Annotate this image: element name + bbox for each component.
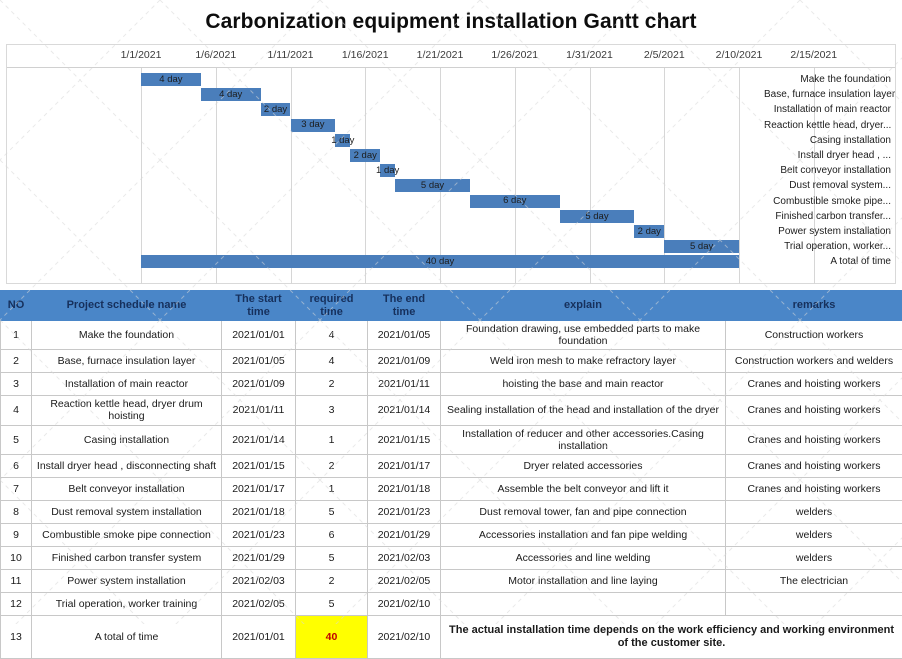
table-total-row[interactable]: 13A total of time2021/01/01402021/02/10T… xyxy=(1,615,902,658)
gantt-row-label: Install dryer head , ... xyxy=(764,148,895,163)
gantt-row-label: Power system installation xyxy=(764,224,895,239)
cell-no: 3 xyxy=(1,373,32,396)
cell-name: Power system installation xyxy=(32,569,222,592)
cell-start: 2021/02/05 xyxy=(222,592,296,615)
cell-no: 10 xyxy=(1,546,32,569)
cell-explain: Dust removal tower, fan and pipe connect… xyxy=(441,500,726,523)
table-row[interactable]: 10Finished carbon transfer system2021/01… xyxy=(1,546,902,569)
cell-required: 5 xyxy=(296,500,368,523)
table-head: NOProject schedule nameThe start timereq… xyxy=(1,291,902,321)
cell-end: 2021/01/09 xyxy=(368,350,441,373)
cell-explain: Dryer related accessories xyxy=(441,454,726,477)
cell-start: 2021/01/05 xyxy=(222,350,296,373)
cell-name: Dust removal system installation xyxy=(32,500,222,523)
axis-tick-label: 1/11/2021 xyxy=(268,49,314,61)
total-note-cell: The actual installation time depends on … xyxy=(441,615,902,658)
gantt-bar-label: 1 day xyxy=(376,166,399,176)
gantt-row: Casing installation1 day xyxy=(7,133,895,148)
table-row[interactable]: 7Belt conveyor installation2021/01/17120… xyxy=(1,477,902,500)
cell-name: Combustible smoke pipe connection xyxy=(32,523,222,546)
gantt-bar[interactable]: 5 day xyxy=(395,179,470,192)
cell-remarks: Construction workers xyxy=(726,321,902,350)
cell-required: 5 xyxy=(296,546,368,569)
cell-explain: hoisting the base and main reactor xyxy=(441,373,726,396)
cell-required: 5 xyxy=(296,592,368,615)
gantt-row-label: Base, furnace insulation layer xyxy=(764,87,895,102)
cell-name: Reaction kettle head, dryer drum hoistin… xyxy=(32,396,222,425)
axis-tick-label: 2/15/2021 xyxy=(790,49,837,61)
cell-name: Finished carbon transfer system xyxy=(32,546,222,569)
cell-name: Make the foundation xyxy=(32,321,222,350)
cell-start: 2021/02/03 xyxy=(222,569,296,592)
column-header-end[interactable]: The end time xyxy=(368,291,441,321)
cell-name: Install dryer head , disconnecting shaft xyxy=(32,454,222,477)
table-row[interactable]: 6Install dryer head , disconnecting shaf… xyxy=(1,454,902,477)
cell-start: 2021/01/01 xyxy=(222,321,296,350)
page-header: Carbonization equipment installation Gan… xyxy=(0,0,902,44)
gantt-bar-label: 5 day xyxy=(421,181,444,191)
cell-end: 2021/01/15 xyxy=(368,425,441,454)
gantt-bar[interactable]: 4 day xyxy=(141,73,201,86)
gantt-bar-label: 1 day xyxy=(331,136,354,146)
cell-end: 2021/02/10 xyxy=(368,592,441,615)
cell-no: 2 xyxy=(1,350,32,373)
gantt-bar-label: 3 day xyxy=(301,120,324,130)
table-row[interactable]: 4Reaction kettle head, dryer drum hoisti… xyxy=(1,396,902,425)
gantt-row-label: Casing installation xyxy=(764,133,895,148)
gantt-bar-label: 4 day xyxy=(159,75,182,85)
cell-required: 2 xyxy=(296,569,368,592)
cell-remarks: Cranes and hoisting workers xyxy=(726,454,902,477)
cell-name: Trial operation, worker training xyxy=(32,592,222,615)
column-header-remarks[interactable]: remarks xyxy=(726,291,902,321)
gantt-bar-label: 6 day xyxy=(503,196,526,206)
gantt-bar[interactable]: 6 day xyxy=(470,195,560,208)
gantt-row-label: Make the foundation xyxy=(764,72,895,87)
gantt-row-label: Trial operation, worker... xyxy=(764,239,895,254)
axis-tick-label: 2/5/2021 xyxy=(644,49,685,61)
gantt-bar[interactable]: 2 day xyxy=(350,149,380,162)
cell-no: 11 xyxy=(1,569,32,592)
gantt-bar[interactable]: 5 day xyxy=(560,210,635,223)
cell-start: 2021/01/29 xyxy=(222,546,296,569)
cell-explain: Accessories installation and fan pipe we… xyxy=(441,523,726,546)
cell-end: 2021/01/17 xyxy=(368,454,441,477)
cell-required: 4 xyxy=(296,350,368,373)
cell-remarks: welders xyxy=(726,523,902,546)
cell-start: 2021/01/17 xyxy=(222,477,296,500)
gantt-row-label: Combustible smoke pipe... xyxy=(764,194,895,209)
cell-explain: Installation of reducer and other access… xyxy=(441,425,726,454)
gantt-row-label: Installation of main reactor xyxy=(764,102,895,117)
table-row[interactable]: 9Combustible smoke pipe connection2021/0… xyxy=(1,523,902,546)
page-title: Carbonization equipment installation Gan… xyxy=(205,10,696,34)
gantt-bar-label: 5 day xyxy=(585,212,608,222)
table-row[interactable]: 3Installation of main reactor2021/01/092… xyxy=(1,373,902,396)
axis-tick-label: 1/26/2021 xyxy=(491,49,538,61)
cell-explain: Assemble the belt conveyor and lift it xyxy=(441,477,726,500)
gantt-bar-label: 2 day xyxy=(264,105,287,115)
cell-total-end: 2021/02/10 xyxy=(368,615,441,658)
cell-end: 2021/01/11 xyxy=(368,373,441,396)
axis-tick-label: 2/10/2021 xyxy=(716,49,763,61)
gantt-row: Belt conveyor installation1 day xyxy=(7,163,895,178)
cell-total-required-highlight: 40 xyxy=(296,615,368,658)
column-header-explain[interactable]: explain xyxy=(441,291,726,321)
table-row[interactable]: 11Power system installation2021/02/03220… xyxy=(1,569,902,592)
column-header-start[interactable]: The start time xyxy=(222,291,296,321)
cell-end: 2021/02/05 xyxy=(368,569,441,592)
gantt-bar[interactable]: 40 day xyxy=(141,255,739,268)
gantt-chart-panel: 1/1/20211/6/20211/11/20211/16/20211/21/2… xyxy=(6,44,896,284)
cell-end: 2021/01/14 xyxy=(368,396,441,425)
gantt-row: Install dryer head , ...2 day xyxy=(7,148,895,163)
gantt-row: Base, furnace insulation layer4 day xyxy=(7,87,895,102)
cell-remarks: welders xyxy=(726,500,902,523)
cell-end: 2021/02/03 xyxy=(368,546,441,569)
cell-no: 1 xyxy=(1,321,32,350)
cell-remarks: The electrician xyxy=(726,569,902,592)
cell-remarks: Cranes and hoisting workers xyxy=(726,396,902,425)
cell-no: 12 xyxy=(1,592,32,615)
gantt-row-label: Belt conveyor installation xyxy=(764,163,895,178)
gantt-row-label: Reaction kettle head, dryer... xyxy=(764,118,895,133)
gantt-bar-label: 2 day xyxy=(638,227,661,237)
cell-required: 1 xyxy=(296,425,368,454)
table-header-row: NOProject schedule nameThe start timereq… xyxy=(1,291,902,321)
column-header-no[interactable]: NO xyxy=(1,291,32,321)
gantt-row: Combustible smoke pipe...6 day xyxy=(7,194,895,209)
cell-no: 4 xyxy=(1,396,32,425)
cell-end: 2021/01/23 xyxy=(368,500,441,523)
cell-total-name: A total of time xyxy=(32,615,222,658)
gantt-row-label: A total of time xyxy=(764,254,895,269)
cell-explain xyxy=(441,592,726,615)
gantt-bar[interactable]: 5 day xyxy=(664,240,739,253)
cell-no: 6 xyxy=(1,454,32,477)
gantt-bar-label: 2 day xyxy=(354,151,377,161)
table-row[interactable]: 5Casing installation2021/01/1412021/01/1… xyxy=(1,425,902,454)
cell-required: 2 xyxy=(296,454,368,477)
gantt-row: Installation of main reactor2 day xyxy=(7,102,895,117)
gantt-bar-label: 5 day xyxy=(690,242,713,252)
gantt-bar[interactable]: 3 day xyxy=(291,119,336,132)
axis-tick-label: 1/1/2021 xyxy=(121,49,162,61)
cell-remarks: Cranes and hoisting workers xyxy=(726,373,902,396)
cell-no: 7 xyxy=(1,477,32,500)
axis-tick-label: 1/31/2021 xyxy=(566,49,613,61)
gantt-row-label: Finished carbon transfer... xyxy=(764,209,895,224)
gantt-bar-label: 40 day xyxy=(426,257,455,267)
table-row[interactable]: 2Base, furnace insulation layer2021/01/0… xyxy=(1,350,902,373)
gantt-row: A total of time40 day xyxy=(7,254,895,269)
cell-end: 2021/01/18 xyxy=(368,477,441,500)
cell-remarks: Cranes and hoisting workers xyxy=(726,477,902,500)
cell-remarks: Construction workers and welders xyxy=(726,350,902,373)
schedule-table: NOProject schedule nameThe start timereq… xyxy=(0,290,902,659)
gantt-bar[interactable]: 4 day xyxy=(201,88,261,101)
cell-required: 6 xyxy=(296,523,368,546)
gantt-row: Reaction kettle head, dryer...3 day xyxy=(7,118,895,133)
cell-start: 2021/01/18 xyxy=(222,500,296,523)
column-header-required[interactable]: required time xyxy=(296,291,368,321)
gantt-row: Finished carbon transfer...5 day xyxy=(7,209,895,224)
cell-name: Installation of main reactor xyxy=(32,373,222,396)
cell-start: 2021/01/09 xyxy=(222,373,296,396)
gantt-bar[interactable]: 2 day xyxy=(261,103,291,116)
cell-explain: Sealing installation of the head and ins… xyxy=(441,396,726,425)
axis-tick-label: 1/6/2021 xyxy=(195,49,236,61)
gantt-bar[interactable]: 1 day xyxy=(380,164,395,177)
cell-required: 1 xyxy=(296,477,368,500)
cell-name: Casing installation xyxy=(32,425,222,454)
schedule-table-wrap: NOProject schedule nameThe start timereq… xyxy=(0,290,902,659)
cell-end: 2021/01/05 xyxy=(368,321,441,350)
gantt-date-axis: 1/1/20211/6/20211/11/20211/16/20211/21/2… xyxy=(7,45,895,68)
gantt-row: Make the foundation4 day xyxy=(7,72,895,87)
cell-start: 2021/01/23 xyxy=(222,523,296,546)
cell-remarks xyxy=(726,592,902,615)
axis-tick-label: 1/16/2021 xyxy=(342,49,389,61)
table-body: 1Make the foundation2021/01/0142021/01/0… xyxy=(1,321,902,658)
gantt-row: Trial operation, worker...5 day xyxy=(7,239,895,254)
cell-end: 2021/01/29 xyxy=(368,523,441,546)
cell-no: 8 xyxy=(1,500,32,523)
column-header-name[interactable]: Project schedule name xyxy=(32,291,222,321)
axis-tick-label: 1/21/2021 xyxy=(417,49,464,61)
cell-total-no: 13 xyxy=(1,615,32,658)
gantt-bar[interactable]: 1 day xyxy=(335,134,350,147)
cell-explain: Foundation drawing, use embedded parts t… xyxy=(441,321,726,350)
cell-explain: Weld iron mesh to make refractory layer xyxy=(441,350,726,373)
gantt-row: Power system installation2 day xyxy=(7,224,895,239)
cell-required: 2 xyxy=(296,373,368,396)
cell-start: 2021/01/15 xyxy=(222,454,296,477)
cell-no: 5 xyxy=(1,425,32,454)
cell-required: 4 xyxy=(296,321,368,350)
gantt-bar[interactable]: 2 day xyxy=(634,225,664,238)
cell-explain: Accessories and line welding xyxy=(441,546,726,569)
cell-start: 2021/01/14 xyxy=(222,425,296,454)
cell-remarks: welders xyxy=(726,546,902,569)
cell-name: Base, furnace insulation layer xyxy=(32,350,222,373)
gantt-row: Dust removal system...5 day xyxy=(7,178,895,193)
table-row[interactable]: 8Dust removal system installation2021/01… xyxy=(1,500,902,523)
cell-total-start: 2021/01/01 xyxy=(222,615,296,658)
cell-no: 9 xyxy=(1,523,32,546)
cell-required: 3 xyxy=(296,396,368,425)
gantt-bar-label: 4 day xyxy=(219,90,242,100)
cell-start: 2021/01/11 xyxy=(222,396,296,425)
table-row[interactable]: 1Make the foundation2021/01/0142021/01/0… xyxy=(1,321,902,350)
cell-name: Belt conveyor installation xyxy=(32,477,222,500)
cell-remarks: Cranes and hoisting workers xyxy=(726,425,902,454)
cell-explain: Motor installation and line laying xyxy=(441,569,726,592)
table-row[interactable]: 12Trial operation, worker training2021/0… xyxy=(1,592,902,615)
gantt-plot-area: Make the foundation4 dayBase, furnace in… xyxy=(7,68,895,284)
gantt-row-label: Dust removal system... xyxy=(764,178,895,193)
